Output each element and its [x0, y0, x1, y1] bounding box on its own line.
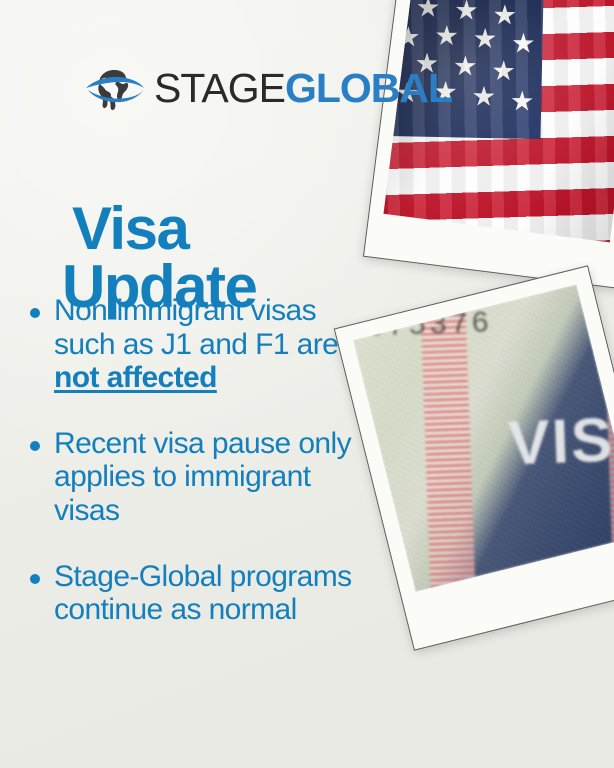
logo-wordmark: STAGEGLOBAL — [154, 68, 452, 109]
list-item-emphasis: not affected — [54, 361, 217, 394]
list-item-text: Recent visa pause only applies to immigr… — [54, 427, 360, 528]
logo-text-stage: STAGE — [154, 65, 285, 111]
list-item-lead: Stage-Global programs continue as normal — [54, 560, 352, 627]
page-title-line-1: Visa — [72, 200, 382, 258]
poster-canvas: 3675376 VISA STAGEGLOBAL Vi — [0, 0, 614, 768]
list-item: Non-immigrant visas such as J1 and F1 ar… — [30, 294, 360, 395]
bullet-list: Non-immigrant visas such as J1 and F1 ar… — [30, 294, 360, 659]
flag-star — [383, 0, 400, 20]
us-flag-artwork — [383, 0, 614, 242]
visa-photo-frame: 3675376 VISA — [353, 285, 614, 592]
visa-photo-card: 3675376 VISA — [334, 265, 614, 651]
list-item-text: Non-immigrant visas such as J1 and F1 ar… — [54, 294, 360, 395]
bullet-dot-icon — [30, 308, 40, 318]
us-flag-photo-card — [363, 0, 614, 289]
list-item-lead: Recent visa pause only applies to immigr… — [54, 427, 351, 527]
list-item-lead: Non-immigrant visas such as J1 and F1 ar… — [54, 294, 338, 361]
visa-depth-blur — [353, 285, 614, 592]
list-item: Stage-Global programs continue as normal — [30, 560, 360, 627]
bullet-dot-icon — [30, 441, 40, 451]
list-item: Recent visa pause only applies to immigr… — [30, 427, 360, 528]
bullet-dot-icon — [30, 574, 40, 584]
us-flag-photo-frame — [383, 0, 614, 242]
brand-logo[interactable]: STAGEGLOBAL — [84, 62, 452, 114]
logo-text-global: GLOBAL — [285, 65, 452, 111]
globe-swoosh-icon — [84, 62, 146, 114]
list-item-text: Stage-Global programs continue as normal — [54, 560, 360, 627]
flag-shading — [383, 0, 614, 242]
visa-page-artwork: 3675376 VISA — [353, 285, 614, 592]
